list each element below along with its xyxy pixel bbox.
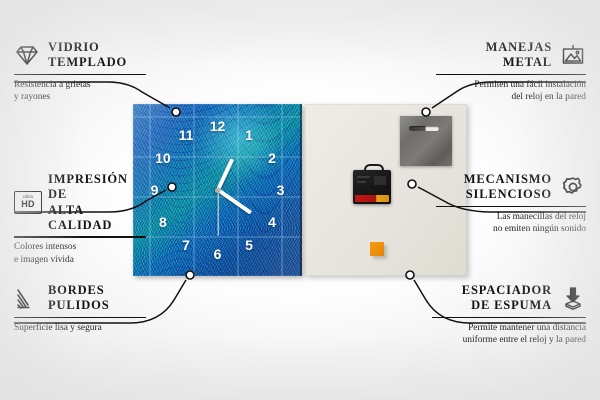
feature-description: Permiten una fácil instalacióndel reloj … xyxy=(436,79,586,104)
feature-description: Colores intensose imagen vívida xyxy=(14,241,146,266)
feature-title: ESPACIADORDE ESPUMA xyxy=(462,283,552,314)
infographic-canvas: 121234567891011 xyxy=(0,0,600,400)
feature-title: IMPRESIÓN DEALTA CALIDAD xyxy=(48,172,146,233)
diamond-icon xyxy=(14,43,40,67)
feature-title: VIDRIOTEMPLADO xyxy=(48,40,127,71)
feature-manejas-metal[interactable]: MANEJASMETAL Permiten una fácil instalac… xyxy=(436,40,586,104)
feature-description: Permite mantener una distanciauniforme e… xyxy=(432,322,586,347)
divider xyxy=(14,236,146,238)
divider xyxy=(436,206,586,208)
feature-mecanismo-silencioso[interactable]: MECANISMOSILENCIOSO Las manecillas del r… xyxy=(436,172,586,236)
gear-icon xyxy=(560,175,586,199)
feature-title: MANEJASMETAL xyxy=(486,40,552,71)
feature-description: Superficie lisa y segura xyxy=(14,322,146,335)
feature-title: MECANISMOSILENCIOSO xyxy=(464,172,552,203)
feature-impresion-alta-calidad[interactable]: ultra HD IMPRESIÓN DEALTA CALIDAD Colore… xyxy=(14,172,146,266)
divider xyxy=(432,317,586,319)
feature-description: Resistencia a grietasy rayones xyxy=(14,79,146,104)
divider xyxy=(14,74,146,76)
foam-spacer-arrow-icon xyxy=(560,286,586,310)
feature-description: Las manecillas del relojno emiten ningún… xyxy=(436,211,586,236)
feature-espaciador-espuma[interactable]: ESPACIADORDE ESPUMA Permite mantener una… xyxy=(432,283,586,347)
divider xyxy=(14,317,146,319)
divider xyxy=(436,74,586,76)
ultra-hd-badge-icon: ultra HD xyxy=(14,191,40,215)
wall-frame-icon xyxy=(560,43,586,67)
feature-title: BORDESPULIDOS xyxy=(48,283,110,314)
feature-bordes-pulidos[interactable]: BORDESPULIDOS Superficie lisa y segura xyxy=(14,283,146,334)
feature-vidrio-templado[interactable]: VIDRIOTEMPLADO Resistencia a grietasy ra… xyxy=(14,40,146,104)
polished-edges-icon xyxy=(14,286,40,310)
